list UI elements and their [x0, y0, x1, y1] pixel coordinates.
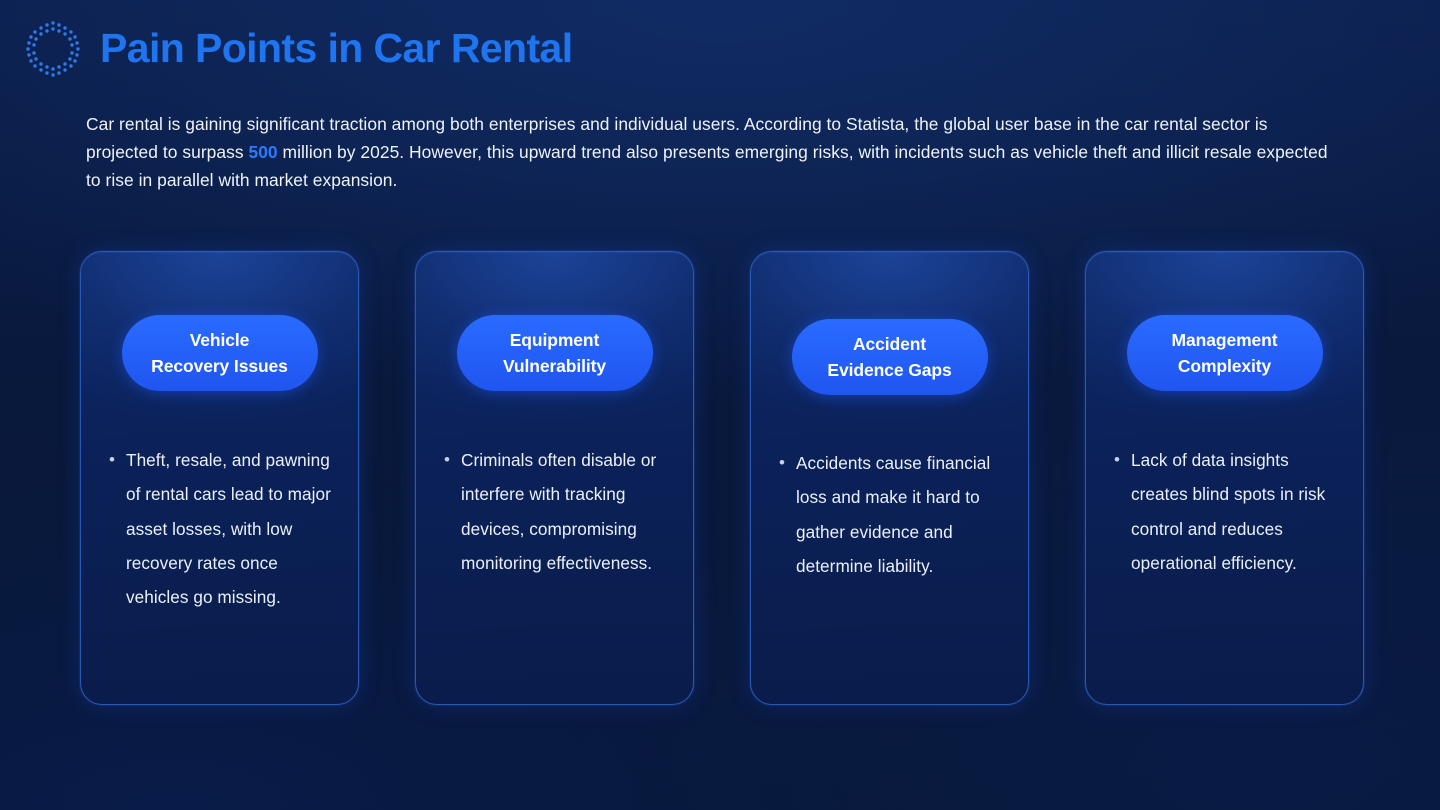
bullet-text: Theft, resale, and pawning of rental car…: [126, 443, 332, 614]
hex-dot-ring-logo-icon: [24, 18, 82, 80]
intro-highlight-number: 500: [248, 142, 277, 162]
bullet-text: Criminals often disable or interfere wit…: [461, 443, 667, 580]
card-bullet-list: • Criminals often disable or interfere w…: [416, 443, 693, 580]
bullet-text: Accidents cause financial loss and make …: [796, 446, 1002, 583]
bullet-dot-icon: •: [109, 443, 115, 614]
list-item: • Criminals often disable or interfere w…: [444, 443, 667, 580]
list-item: • Lack of data insights creates blind sp…: [1114, 443, 1337, 580]
intro-paragraph: Car rental is gaining significant tracti…: [86, 110, 1344, 194]
pain-point-card-row: VehicleRecovery Issues • Theft, resale, …: [80, 251, 1364, 705]
card-title-pill: ManagementComplexity: [1127, 315, 1323, 391]
pain-point-card[interactable]: AccidentEvidence Gaps • Accidents cause …: [750, 251, 1029, 705]
list-item: • Accidents cause financial loss and mak…: [779, 446, 1002, 583]
bullet-text: Lack of data insights creates blind spot…: [1131, 443, 1337, 580]
card-title-pill: AccidentEvidence Gaps: [792, 319, 988, 395]
bullet-dot-icon: •: [1114, 443, 1120, 580]
card-bullet-list: • Theft, resale, and pawning of rental c…: [81, 443, 358, 614]
card-bullet-list: • Accidents cause financial loss and mak…: [751, 446, 1028, 583]
list-item: • Theft, resale, and pawning of rental c…: [109, 443, 332, 614]
page-title: Pain Points in Car Rental: [100, 27, 573, 70]
bullet-dot-icon: •: [444, 443, 450, 580]
slide-root: Pain Points in Car Rental Car rental is …: [0, 0, 1440, 810]
card-title-pill: VehicleRecovery Issues: [122, 315, 318, 391]
pain-point-card[interactable]: ManagementComplexity • Lack of data insi…: [1085, 251, 1364, 705]
card-title-pill: EquipmentVulnerability: [457, 315, 653, 391]
card-bullet-list: • Lack of data insights creates blind sp…: [1086, 443, 1363, 580]
bullet-dot-icon: •: [779, 446, 785, 583]
slide-header: Pain Points in Car Rental: [24, 18, 573, 80]
pain-point-card[interactable]: VehicleRecovery Issues • Theft, resale, …: [80, 251, 359, 705]
pain-point-card[interactable]: EquipmentVulnerability • Criminals often…: [415, 251, 694, 705]
